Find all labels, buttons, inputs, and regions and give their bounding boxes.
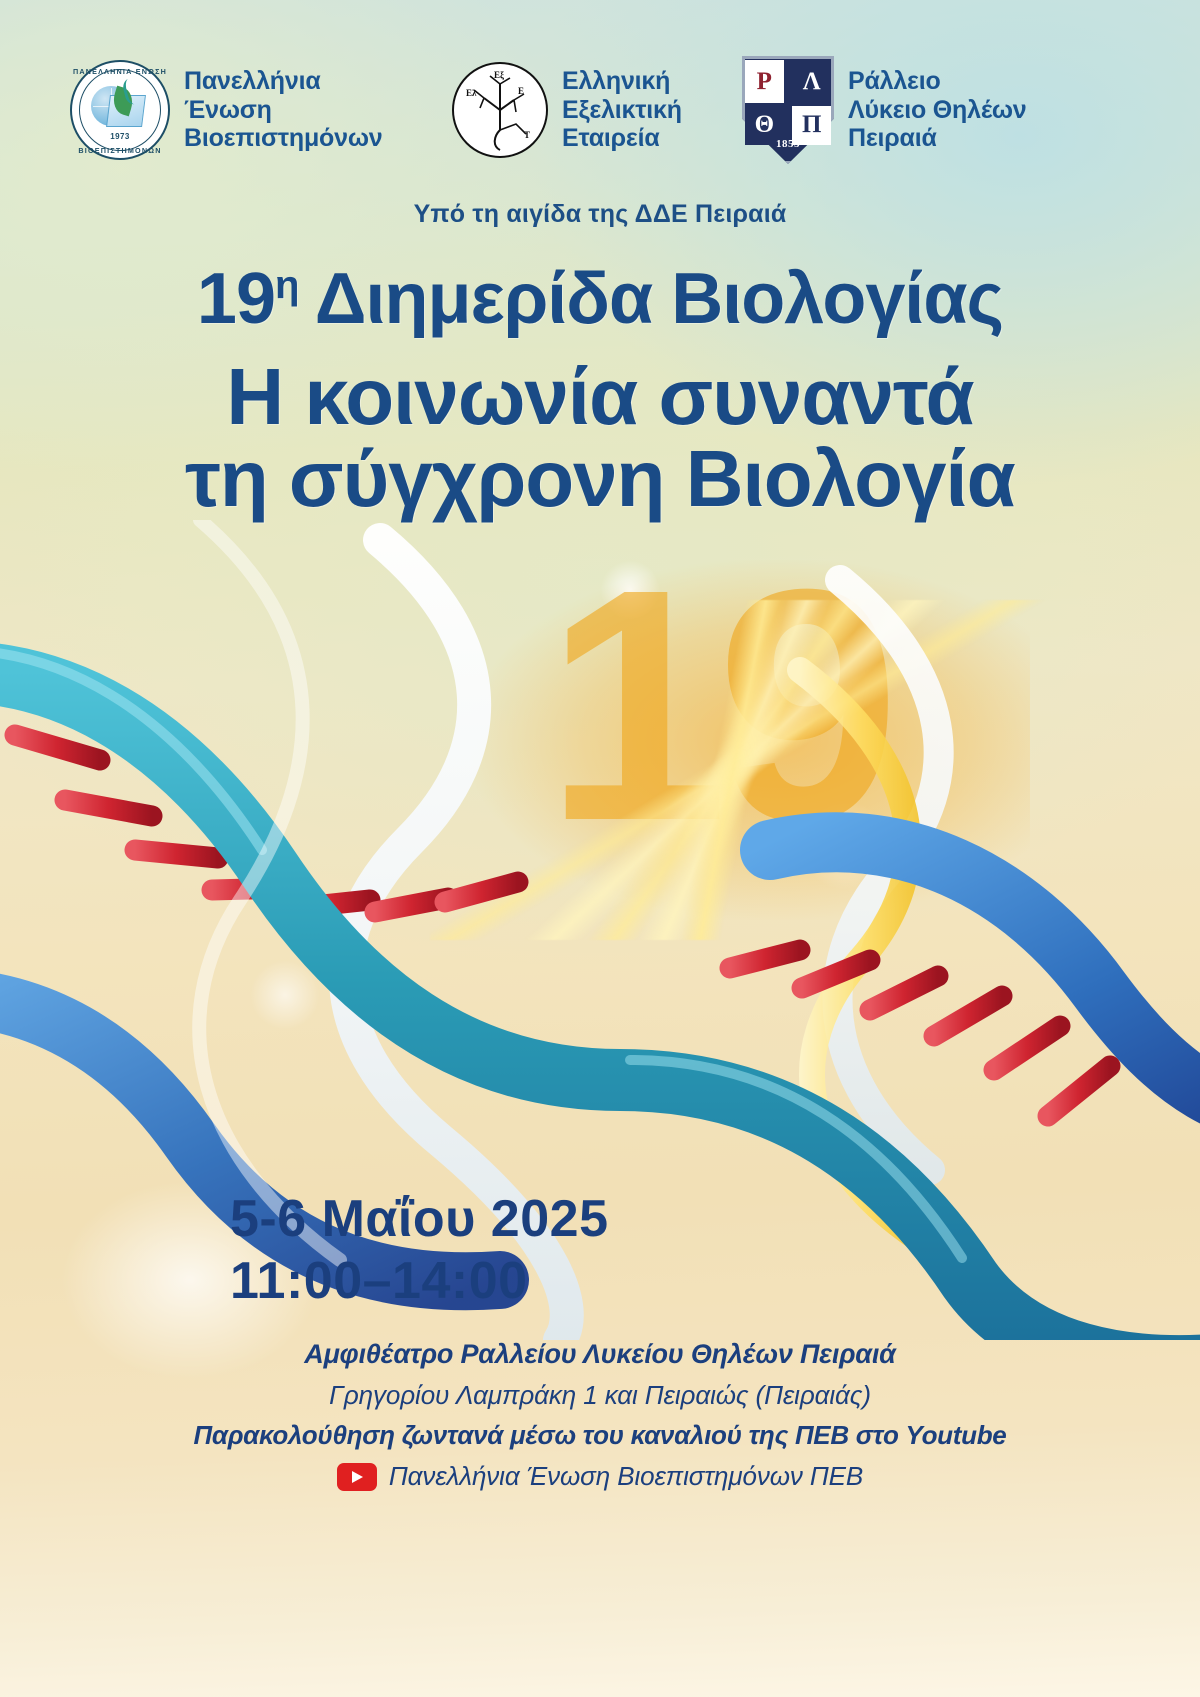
pev-emblem-year: 1973 <box>72 132 168 141</box>
event-datetime: 5-6 Μαΐου 2025 11:00–14:00 <box>230 1188 609 1312</box>
logo-eee-line-3: Εταιρεία <box>562 124 682 153</box>
eee-letter-3: Ε <box>518 86 524 96</box>
logo-ralleio-line-3: Πειραιά <box>848 124 1027 153</box>
logo-eee-label: Ελληνική Εξελικτική Εταιρεία <box>562 67 682 153</box>
page-title: 19η Διημερίδα Βιολογίας <box>0 258 1200 340</box>
light-blob <box>250 960 320 1030</box>
logo-eee: Εξ Ελ Ε Τ Ελληνική Εξελικτική Εταιρεία <box>452 62 682 158</box>
venue-address: Γρηγορίου Λαμπράκη 1 και Πειραιώς (Πειρα… <box>0 1375 1200 1415</box>
eee-letter-2: Ελ <box>466 88 476 98</box>
title-ordinal-suffix: η <box>275 263 298 307</box>
logo-pev-line-1: Πανελλήνια <box>184 67 382 96</box>
logo-pev: ΠΑΝΕΛΛΗΝΙΑ ΕΝΩΣΗ 1973 ΒΙΟΕΠΙΣΤΗΜΟΝΩΝ Παν… <box>70 60 382 160</box>
eee-letter-4: Τ <box>524 130 530 140</box>
subtitle-line-1: Η κοινωνία συναντά <box>0 356 1200 438</box>
venue-name: Αμφιθέατρο Ραλλείου Λυκείου Θηλέων Πειρα… <box>0 1333 1200 1375</box>
pev-arc-top-text: ΠΑΝΕΛΛΗΝΙΑ ΕΝΩΣΗ <box>72 67 168 76</box>
title-ordinal: 19 <box>197 259 275 339</box>
title-main: Διημερίδα Βιολογίας <box>315 259 1003 339</box>
youtube-icon[interactable] <box>337 1463 377 1491</box>
shield-letter-1: Ρ <box>745 60 784 103</box>
aegis-line: Υπό τη αιγίδα της ΔΔΕ Πειραιά <box>0 200 1200 229</box>
page-subtitle: Η κοινωνία συναντά τη σύγχρονη Βιολογία <box>0 356 1200 519</box>
logo-ralleio-line-2: Λύκειο Θηλέων <box>848 96 1027 125</box>
logo-ralleio: Ρ Λ Π Θ 1855 Ράλλειο Λύκειο Θηλέων Πειρα… <box>742 56 1027 164</box>
youtube-channel-name: Πανελλήνια Ένωση Βιοεπιστημόνων ΠΕΒ <box>389 1461 863 1492</box>
ralleio-shield-icon: Ρ Λ Π Θ 1855 <box>742 56 834 164</box>
youtube-channel-row[interactable]: Πανελλήνια Ένωση Βιοεπιστημόνων ΠΕΒ <box>0 1461 1200 1492</box>
logo-ralleio-label: Ράλλειο Λύκειο Θηλέων Πειραιά <box>848 67 1027 153</box>
shield-year: 1855 <box>742 138 834 150</box>
logo-pev-line-3: Βιοεπιστημόνων <box>184 124 382 153</box>
logo-eee-line-1: Ελληνική <box>562 67 682 96</box>
event-date: 5-6 Μαΐου 2025 <box>230 1188 609 1250</box>
watermark-19: 19 <box>545 540 985 900</box>
logo-row: ΠΑΝΕΛΛΗΝΙΑ ΕΝΩΣΗ 1973 ΒΙΟΕΠΙΣΤΗΜΟΝΩΝ Παν… <box>0 52 1200 180</box>
pev-arc-bottom-text: ΒΙΟΕΠΙΣΤΗΜΟΝΩΝ <box>72 146 168 155</box>
logo-ralleio-line-1: Ράλλειο <box>848 67 1027 96</box>
subtitle-line-2: τη σύγχρονη Βιολογία <box>0 438 1200 520</box>
eee-emblem-icon: Εξ Ελ Ε Τ <box>452 62 548 158</box>
shield-letter-2: Λ <box>792 60 831 103</box>
conference-poster: ΠΑΝΕΛΛΗΝΙΑ ΕΝΩΣΗ 1973 ΒΙΟΕΠΙΣΤΗΜΟΝΩΝ Παν… <box>0 0 1200 1697</box>
poster-footer: Αμφιθέατρο Ραλλείου Λυκείου Θηλέων Πειρα… <box>0 1333 1200 1492</box>
logo-pev-line-2: Ένωση <box>184 96 382 125</box>
pev-emblem-icon: ΠΑΝΕΛΛΗΝΙΑ ΕΝΩΣΗ 1973 ΒΙΟΕΠΙΣΤΗΜΟΝΩΝ <box>70 60 170 160</box>
logo-eee-line-2: Εξελικτική <box>562 96 682 125</box>
stream-notice: Παρακολούθηση ζωντανά μέσω του καναλιού … <box>0 1415 1200 1455</box>
logo-pev-label: Πανελλήνια Ένωση Βιοεπιστημόνων <box>184 67 382 153</box>
event-time: 11:00–14:00 <box>230 1250 609 1312</box>
eee-letter-1: Εξ <box>494 70 504 80</box>
